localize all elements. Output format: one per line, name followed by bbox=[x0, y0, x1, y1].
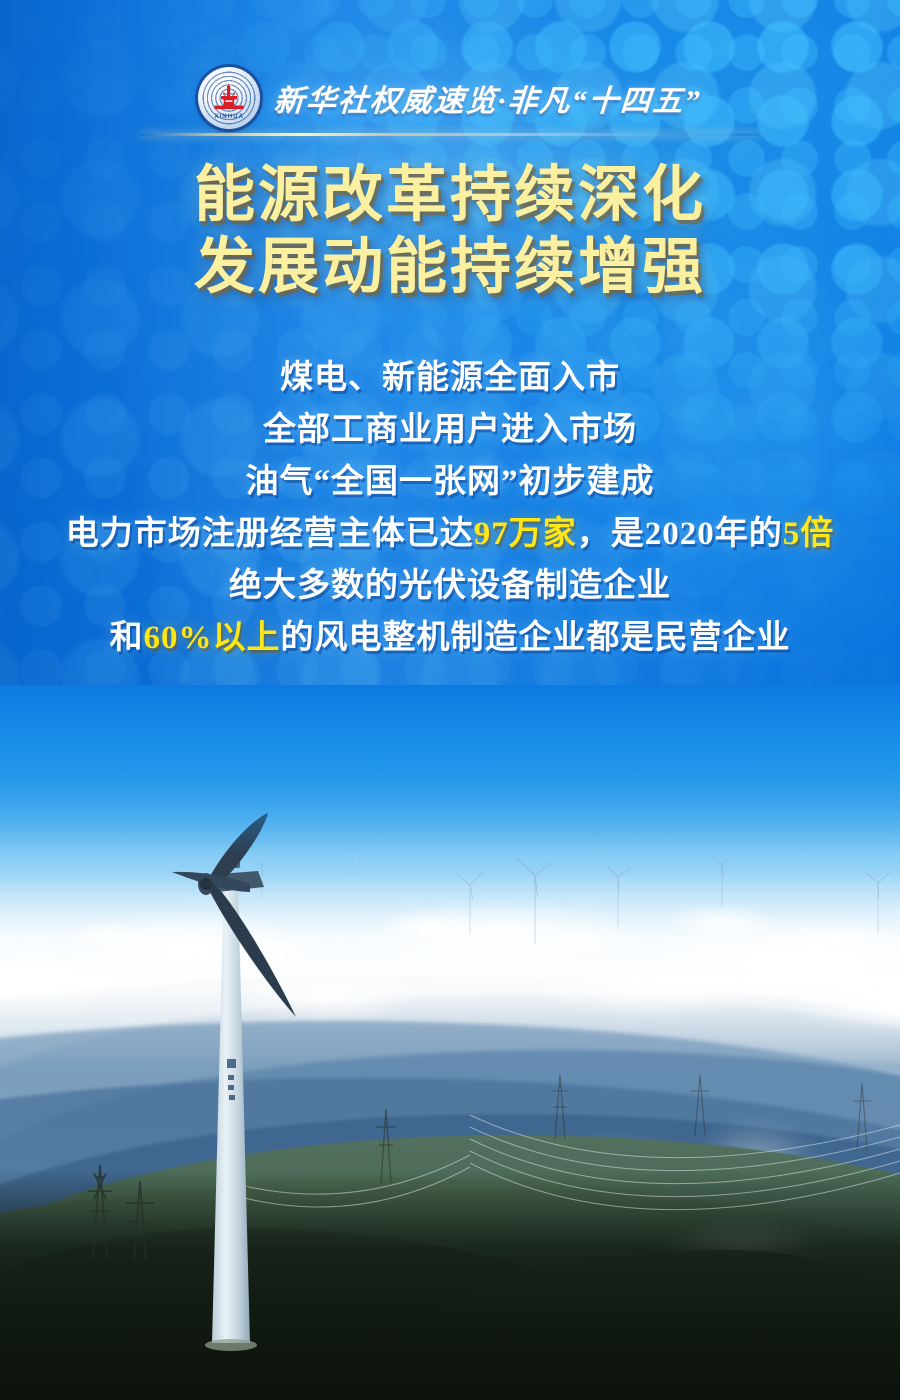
body-text-segment: 油气“全国一张网”初步建成 bbox=[246, 464, 655, 500]
poster-title: 能源改革持续深化 发展动能持续增强 bbox=[0, 160, 900, 304]
body-text-block: 煤电、新能源全面入市全部工商业用户进入市场油气“全国一张网”初步建成电力市场注册… bbox=[0, 352, 900, 664]
body-text-segment: 绝大多数的光伏设备制造企业 bbox=[229, 568, 671, 604]
foreground-wind-turbine-icon bbox=[172, 813, 492, 1373]
highlight-figure: 97万家 bbox=[474, 516, 577, 552]
body-text-line: 电力市场注册经营主体已达97万家，是2020年的5倍 bbox=[0, 508, 900, 560]
body-text-segment: 和 bbox=[110, 620, 144, 656]
body-text-line: 全部工商业用户进入市场 bbox=[0, 404, 900, 456]
poster-root: XINHUA 新华社权威速览·非凡“十四五” 能源改革持续深化 发展动能持续增强… bbox=[0, 0, 900, 1400]
body-text-segment: 的风电整机制造企业都是民营企业 bbox=[281, 620, 791, 656]
highlight-figure: 60%以上 bbox=[144, 620, 281, 656]
xinhua-tower-mark-icon bbox=[212, 84, 246, 114]
body-text-line: 油气“全国一张网”初步建成 bbox=[0, 456, 900, 508]
body-text-line: 煤电、新能源全面入市 bbox=[0, 352, 900, 404]
body-text-line: 绝大多数的光伏设备制造企业 bbox=[0, 560, 900, 612]
wind-farm-photo bbox=[0, 685, 900, 1400]
page-title-line-2: 发展动能持续增强 bbox=[0, 232, 900, 304]
body-text-segment: 煤电、新能源全面入市 bbox=[280, 360, 620, 396]
body-text-segment: 全部工商业用户进入市场 bbox=[263, 412, 637, 448]
body-text-line: 和60%以上的风电整机制造企业都是民营企业 bbox=[0, 612, 900, 664]
body-text-segment: 电力市场注册经营主体已达 bbox=[66, 516, 474, 552]
header-bar: XINHUA 新华社权威速览·非凡“十四五” bbox=[0, 58, 900, 138]
body-text-segment: ，是2020年的 bbox=[577, 516, 783, 552]
header-title: 新华社权威速览·非凡“十四五” bbox=[273, 76, 704, 120]
xinhua-logo-icon: XINHUA bbox=[198, 67, 260, 129]
xinhua-logo-ribbon-text: XINHUA bbox=[198, 114, 260, 120]
page-title-line-1: 能源改革持续深化 bbox=[0, 160, 900, 232]
highlight-figure: 5倍 bbox=[783, 516, 835, 552]
